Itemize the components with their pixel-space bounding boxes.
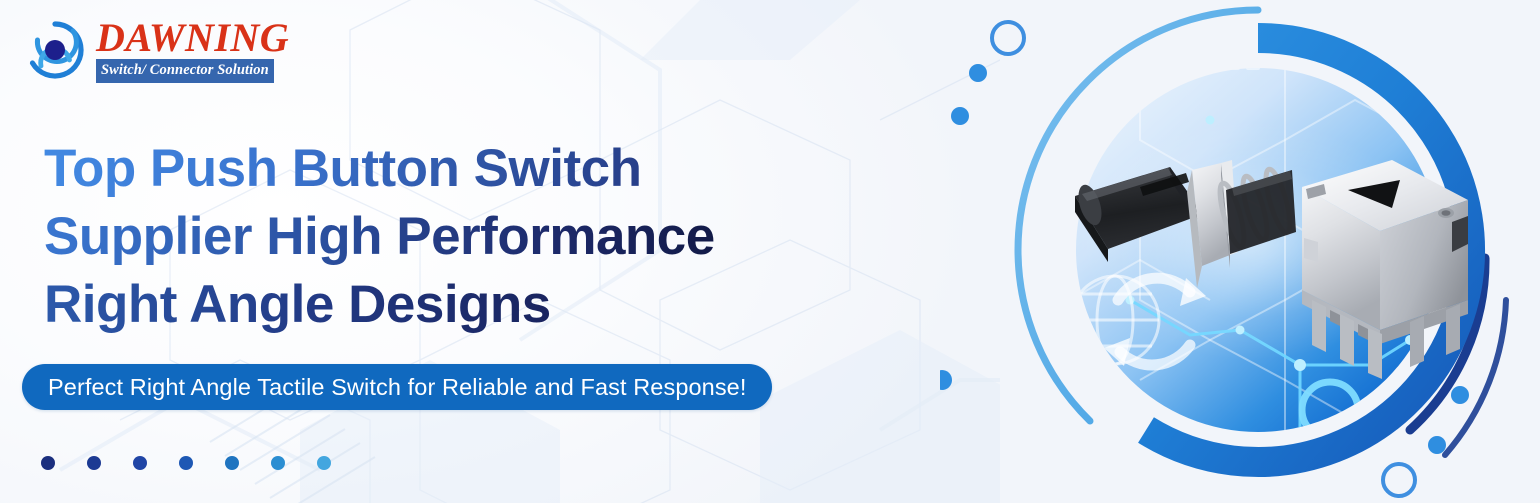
subtitle-pill: Perfect Right Angle Tactile Switch for R… xyxy=(22,364,772,410)
decor-dot xyxy=(317,456,331,470)
headline-line-3: Right Angle Designs xyxy=(44,271,715,339)
decor-dot xyxy=(179,456,193,470)
accent-dot-bottom-right-upper xyxy=(1451,386,1469,404)
headline-line-1: Top Push Button Switch xyxy=(44,135,715,203)
decor-dot xyxy=(271,456,285,470)
decorative-dot-row xyxy=(41,456,331,470)
brand-logo[interactable]: DAWNING Switch/ Connector Solution xyxy=(24,18,289,83)
ring-outline-top-left xyxy=(992,22,1024,54)
page-title: Top Push Button Switch Supplier High Per… xyxy=(44,135,715,339)
promo-banner: DAWNING Switch/ Connector Solution Top P… xyxy=(0,0,1540,503)
ring-outline-bottom-right xyxy=(1383,464,1415,496)
accent-dot-top-left xyxy=(969,64,987,82)
decor-dot xyxy=(41,456,55,470)
brand-name: DAWNING xyxy=(96,18,289,57)
decor-dot xyxy=(225,456,239,470)
decor-dot xyxy=(87,456,101,470)
accent-dot-left xyxy=(951,107,969,125)
decor-dot xyxy=(133,456,147,470)
accent-dot-mid-left xyxy=(940,370,952,390)
brand-tagline: Switch/ Connector Solution xyxy=(96,59,274,83)
switch-housing xyxy=(1302,160,1468,344)
headline-line-2: Supplier High Performance xyxy=(44,203,715,271)
spiral-target-icon xyxy=(24,19,86,81)
product-image xyxy=(940,0,1540,503)
accent-dot-bottom-right-lower xyxy=(1428,436,1446,454)
